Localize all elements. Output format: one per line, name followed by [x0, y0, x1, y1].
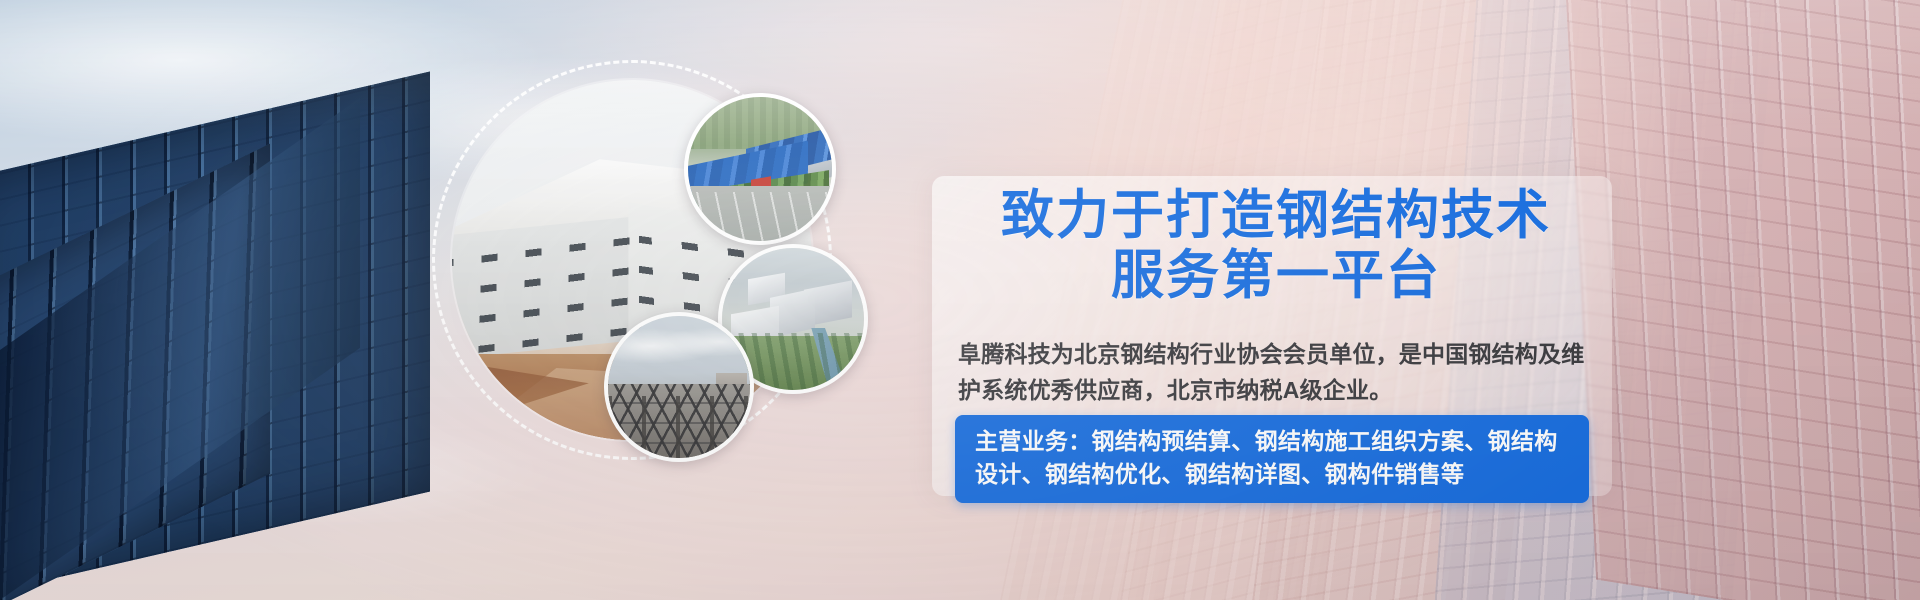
- thumb-steel-truss[interactable]: [604, 312, 754, 462]
- thumb1-lane-markings: [688, 192, 832, 241]
- thumb3-clouds: [608, 325, 750, 368]
- banner-hero: 致力于打造钢结构技术 服务第一平台 阜腾科技为北京钢结构行业协会会员单位，是中国…: [0, 0, 1920, 600]
- headline-line-2: 服务第一平台: [952, 246, 1600, 306]
- business-scope-badge[interactable]: 主营业务：钢结构预结算、钢结构施工组织方案、钢结构设计、钢结构优化、钢结构详图、…: [955, 415, 1589, 503]
- thumb-factory-aerial[interactable]: [684, 93, 836, 245]
- page-title: 致力于打造钢结构技术 服务第一平台: [952, 186, 1600, 306]
- thumb3-support-posts: [608, 396, 750, 458]
- company-description: 阜腾科技为北京钢结构行业协会会员单位，是中国钢结构及维护系统优秀供应商，北京市纳…: [958, 336, 1592, 408]
- headline-line-1: 致力于打造钢结构技术: [952, 186, 1600, 246]
